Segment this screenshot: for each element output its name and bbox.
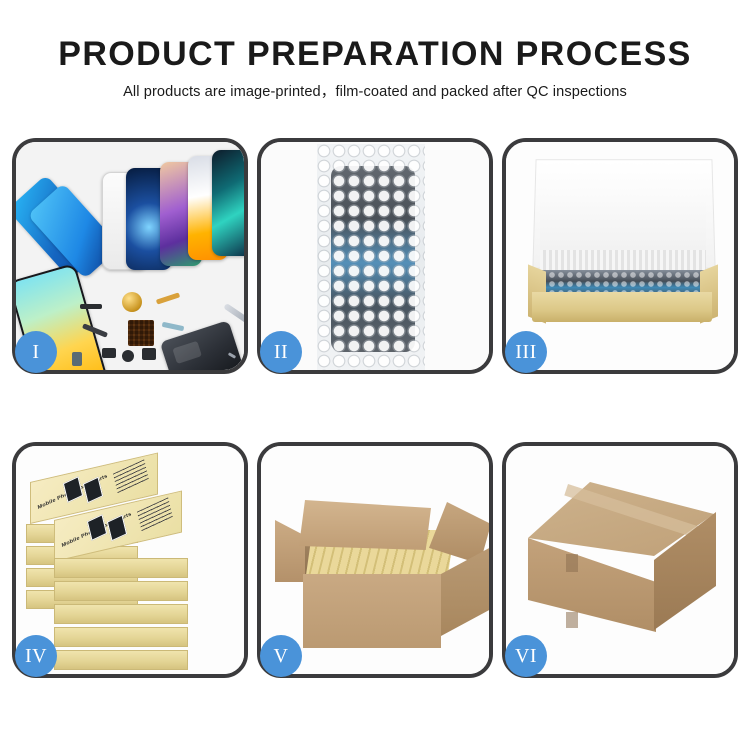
page-title: PRODUCT PREPARATION PROCESS [0,34,750,74]
connector-part-1 [102,348,116,358]
carton-seam-bottom [566,612,578,628]
phone-screen-teal [212,150,244,256]
carton-front-wall [303,574,441,648]
box-window-1a [63,476,83,503]
carton-flap-back [299,500,431,550]
mailer-front-wall [532,292,712,322]
vibrator-motor-part [122,292,142,312]
step-panel-6: VI [502,442,738,678]
connector-part-3 [72,352,82,366]
stacked-box-f4 [54,627,188,647]
flex-cable-part-1 [156,292,180,304]
stacked-box-f1 [54,558,188,578]
speaker-part [80,304,102,309]
step-badge-2: II [260,331,302,373]
page-subtitle: All products are image-printed，film-coat… [0,83,750,101]
carton-seam-top [566,554,578,572]
stacked-box-f5 [54,650,188,670]
camera-part [122,350,134,362]
flex-cable-part-2 [162,322,185,331]
product-preparation-page: PRODUCT PREPARATION PROCESS All products… [0,0,750,750]
step-panel-3: III [502,138,738,374]
box-spec-lines-1 [113,459,149,494]
step-panel-1: I [12,138,248,374]
bubble-highlights [317,144,425,370]
step-panel-2: II [257,138,493,374]
connector-part-2 [142,348,156,360]
page-header: PRODUCT PREPARATION PROCESS All products… [0,34,750,101]
step-panel-4: Mobile Phone Spare Parts Mobile Phone Sp… [12,442,248,678]
step-panel-5: V [257,442,493,678]
step-badge-5: V [260,635,302,677]
stacked-box-f3 [54,604,188,624]
step-badge-3: III [505,331,547,373]
step-badge-6: VI [505,635,547,677]
stacked-box-f2 [54,581,188,601]
box-spec-lines-2 [137,497,173,532]
chip-array-part [128,320,154,346]
step-badge-1: I [15,331,57,373]
process-steps-grid: I II [12,138,738,678]
box-window-2a [87,514,107,541]
step-badge-4: IV [15,635,57,677]
